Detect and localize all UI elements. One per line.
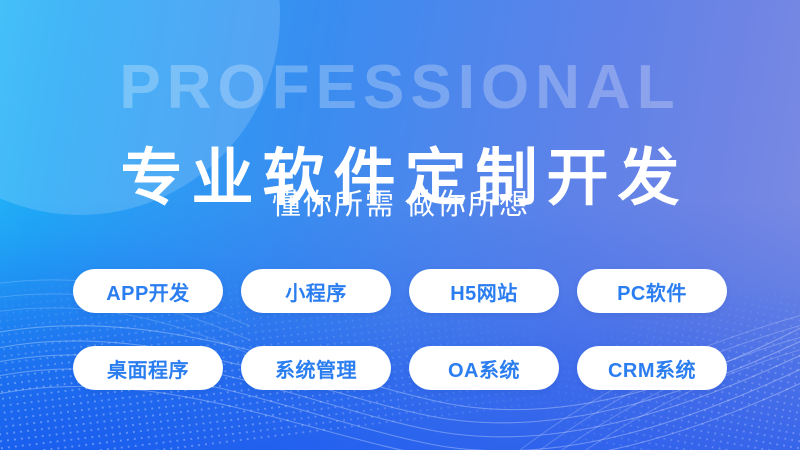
tag-pill-mini-program[interactable]: 小程序 bbox=[241, 269, 391, 313]
tag-pill-oa-system[interactable]: OA系统 bbox=[409, 346, 559, 390]
tag-pill-h5-website[interactable]: H5网站 bbox=[409, 269, 559, 313]
tag-pill-desktop-program[interactable]: 桌面程序 bbox=[73, 346, 223, 390]
tag-pill-system-management[interactable]: 系统管理 bbox=[241, 346, 391, 390]
promo-banner: PROFESSIONAL 专业软件定制开发 懂你所需 做你所想 APP开发 小程… bbox=[0, 0, 800, 450]
tag-pill-pc-software[interactable]: PC软件 bbox=[577, 269, 727, 313]
service-tag-grid: APP开发 小程序 H5网站 PC软件 桌面程序 系统管理 OA系统 CRM系统 bbox=[73, 269, 727, 390]
banner-content: PROFESSIONAL 专业软件定制开发 懂你所需 做你所想 APP开发 小程… bbox=[0, 0, 800, 450]
subheadline-text: 懂你所需 做你所想 bbox=[0, 188, 800, 223]
watermark-text: PROFESSIONAL bbox=[0, 57, 800, 119]
tag-pill-app-development[interactable]: APP开发 bbox=[73, 269, 223, 313]
tag-pill-crm-system[interactable]: CRM系统 bbox=[577, 346, 727, 390]
